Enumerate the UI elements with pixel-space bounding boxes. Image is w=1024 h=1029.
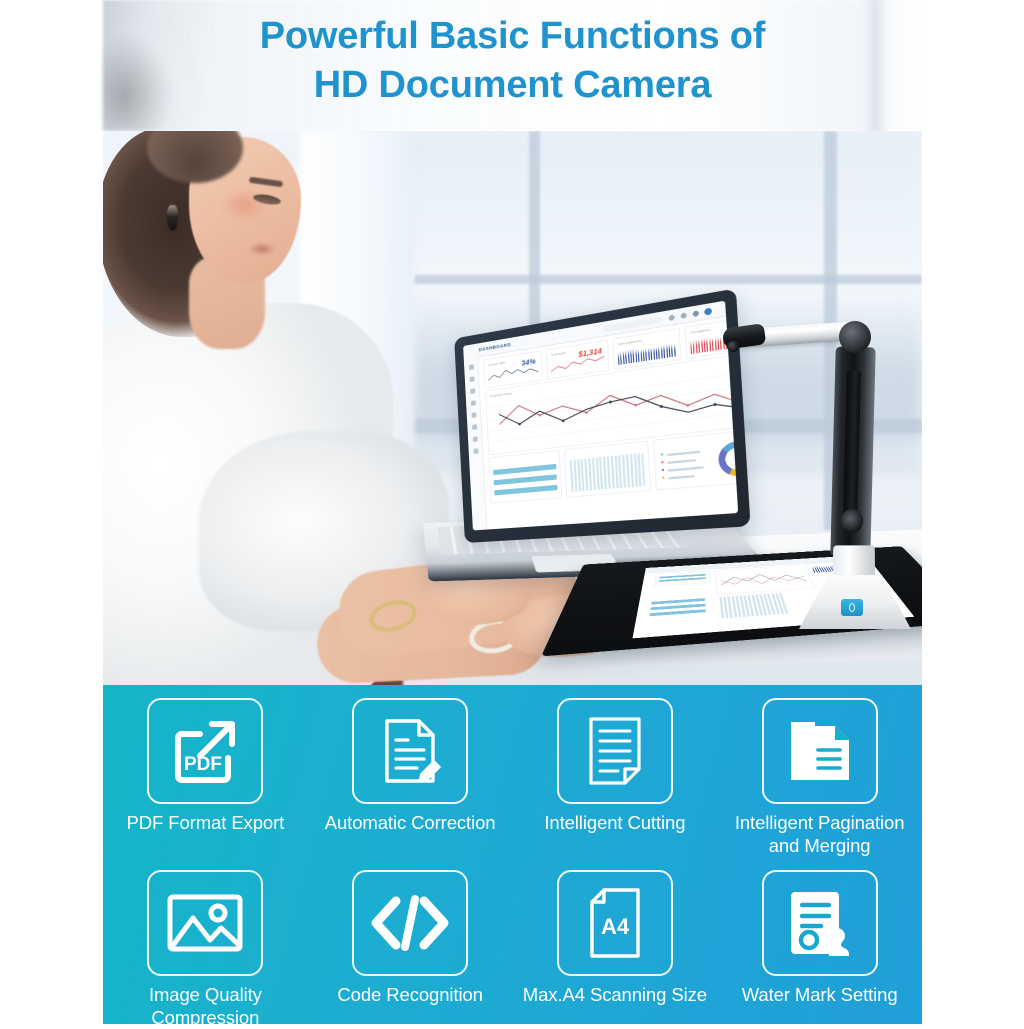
hd-document-camera: [713, 317, 893, 637]
legend-dot: [662, 476, 665, 479]
feature-pdf-format-export[interactable]: PDF PDF Format Export: [103, 685, 308, 857]
table-row: [494, 485, 557, 496]
code-brackets-icon: [370, 895, 450, 951]
scan-card: [654, 570, 711, 586]
feature-max-a4-scanning-size[interactable]: A4 Max.A4 Scanning Size: [513, 857, 718, 1029]
woman-lips: [249, 243, 275, 255]
hero-photo: DASHBOARD: [103, 131, 922, 685]
sidebar-icon[interactable]: [473, 448, 478, 454]
feature-label: PDF Format Export: [127, 811, 285, 834]
feature-label: Image Quality Compression: [149, 983, 262, 1029]
feature-label: Intelligent Pagination and Merging: [735, 811, 905, 857]
document-folded-corner-icon: [585, 715, 645, 787]
feature-intelligent-pagination-and-merging[interactable]: Intelligent Pagination and Merging: [717, 685, 922, 857]
legend-label: [668, 475, 695, 479]
legend-label: [667, 459, 696, 464]
feature-tile[interactable]: [762, 870, 878, 976]
feature-label: Max.A4 Scanning Size: [523, 983, 707, 1006]
feature-tile[interactable]: A4: [557, 870, 673, 976]
feature-automatic-correction[interactable]: Automatic Correction: [308, 685, 513, 857]
image-photo-icon: [166, 892, 244, 954]
sidebar-icon[interactable]: [471, 412, 476, 418]
feature-label: Automatic Correction: [325, 811, 496, 834]
woman-earring: [167, 205, 178, 231]
kpi-label: Total gains: [551, 350, 566, 357]
legend-dot: [661, 461, 664, 464]
laptop-screen: DASHBOARD: [463, 301, 738, 531]
product-feature-graphic: Powerful Basic Functions of HD Document …: [0, 0, 1024, 1024]
stacked-documents-icon: [785, 716, 855, 786]
dashboard-app: DASHBOARD: [463, 301, 738, 531]
table-row: [494, 474, 557, 485]
power-button[interactable]: [841, 599, 863, 616]
document-pencil-icon: [377, 716, 443, 786]
sidebar-icon[interactable]: [472, 436, 477, 442]
legend-dot: [662, 469, 665, 472]
feature-tile[interactable]: [762, 698, 878, 804]
window-mullion-horizontal: [414, 275, 922, 284]
header-band: Powerful Basic Functions of HD Document …: [0, 0, 1024, 131]
feature-image-quality-compression[interactable]: Image Quality Compression: [103, 857, 308, 1029]
feature-label: Code Recognition: [337, 983, 482, 1006]
svg-text:PDF: PDF: [184, 754, 222, 775]
legend-label: [667, 451, 701, 456]
table-row: [493, 464, 556, 475]
legend-label: [668, 466, 704, 471]
legend-dot: [661, 453, 664, 456]
sidebar-icon[interactable]: [470, 388, 475, 394]
a4-page-icon-text: A4: [601, 914, 630, 939]
feature-tile[interactable]: [352, 698, 468, 804]
document-stamp-icon: [785, 888, 855, 958]
page-title: Powerful Basic Functions of HD Document …: [103, 12, 922, 110]
feature-intelligent-cutting[interactable]: Intelligent Cutting: [513, 685, 718, 857]
feature-grid: PDF PDF Format Export: [103, 685, 922, 1024]
a4-page-icon: A4: [586, 886, 644, 960]
table-card: [488, 450, 562, 504]
page-title-line-2: HD Document Camera: [103, 61, 922, 110]
feature-tile[interactable]: [352, 870, 468, 976]
feature-water-mark-setting[interactable]: Water Mark Setting: [717, 857, 922, 1029]
feature-label: Intelligent Cutting: [544, 811, 685, 834]
heatmap-grid: [570, 453, 645, 492]
feature-panel: PDF PDF Format Export: [103, 685, 922, 1024]
sidebar-icon[interactable]: [472, 424, 477, 430]
feature-label: Water Mark Setting: [742, 983, 898, 1006]
scanner-secondary-lens: [841, 509, 863, 533]
pdf-export-icon: PDF: [170, 718, 240, 784]
feature-tile[interactable]: PDF: [147, 698, 263, 804]
feature-code-recognition[interactable]: Code Recognition: [308, 857, 513, 1029]
feature-tile[interactable]: [147, 870, 263, 976]
scan-bar: [649, 609, 705, 616]
kpi-label: Unique visits: [488, 360, 505, 367]
heatmap-card: [564, 440, 651, 498]
scanner-camera-lens: [726, 340, 739, 353]
scanner-hinge-joint: [839, 321, 871, 353]
sidebar-icon[interactable]: [468, 364, 473, 370]
sidebar-icon[interactable]: [469, 376, 474, 382]
page-title-line-1: Powerful Basic Functions of: [260, 15, 766, 57]
feature-tile[interactable]: [557, 698, 673, 804]
sidebar-icon[interactable]: [470, 400, 475, 406]
